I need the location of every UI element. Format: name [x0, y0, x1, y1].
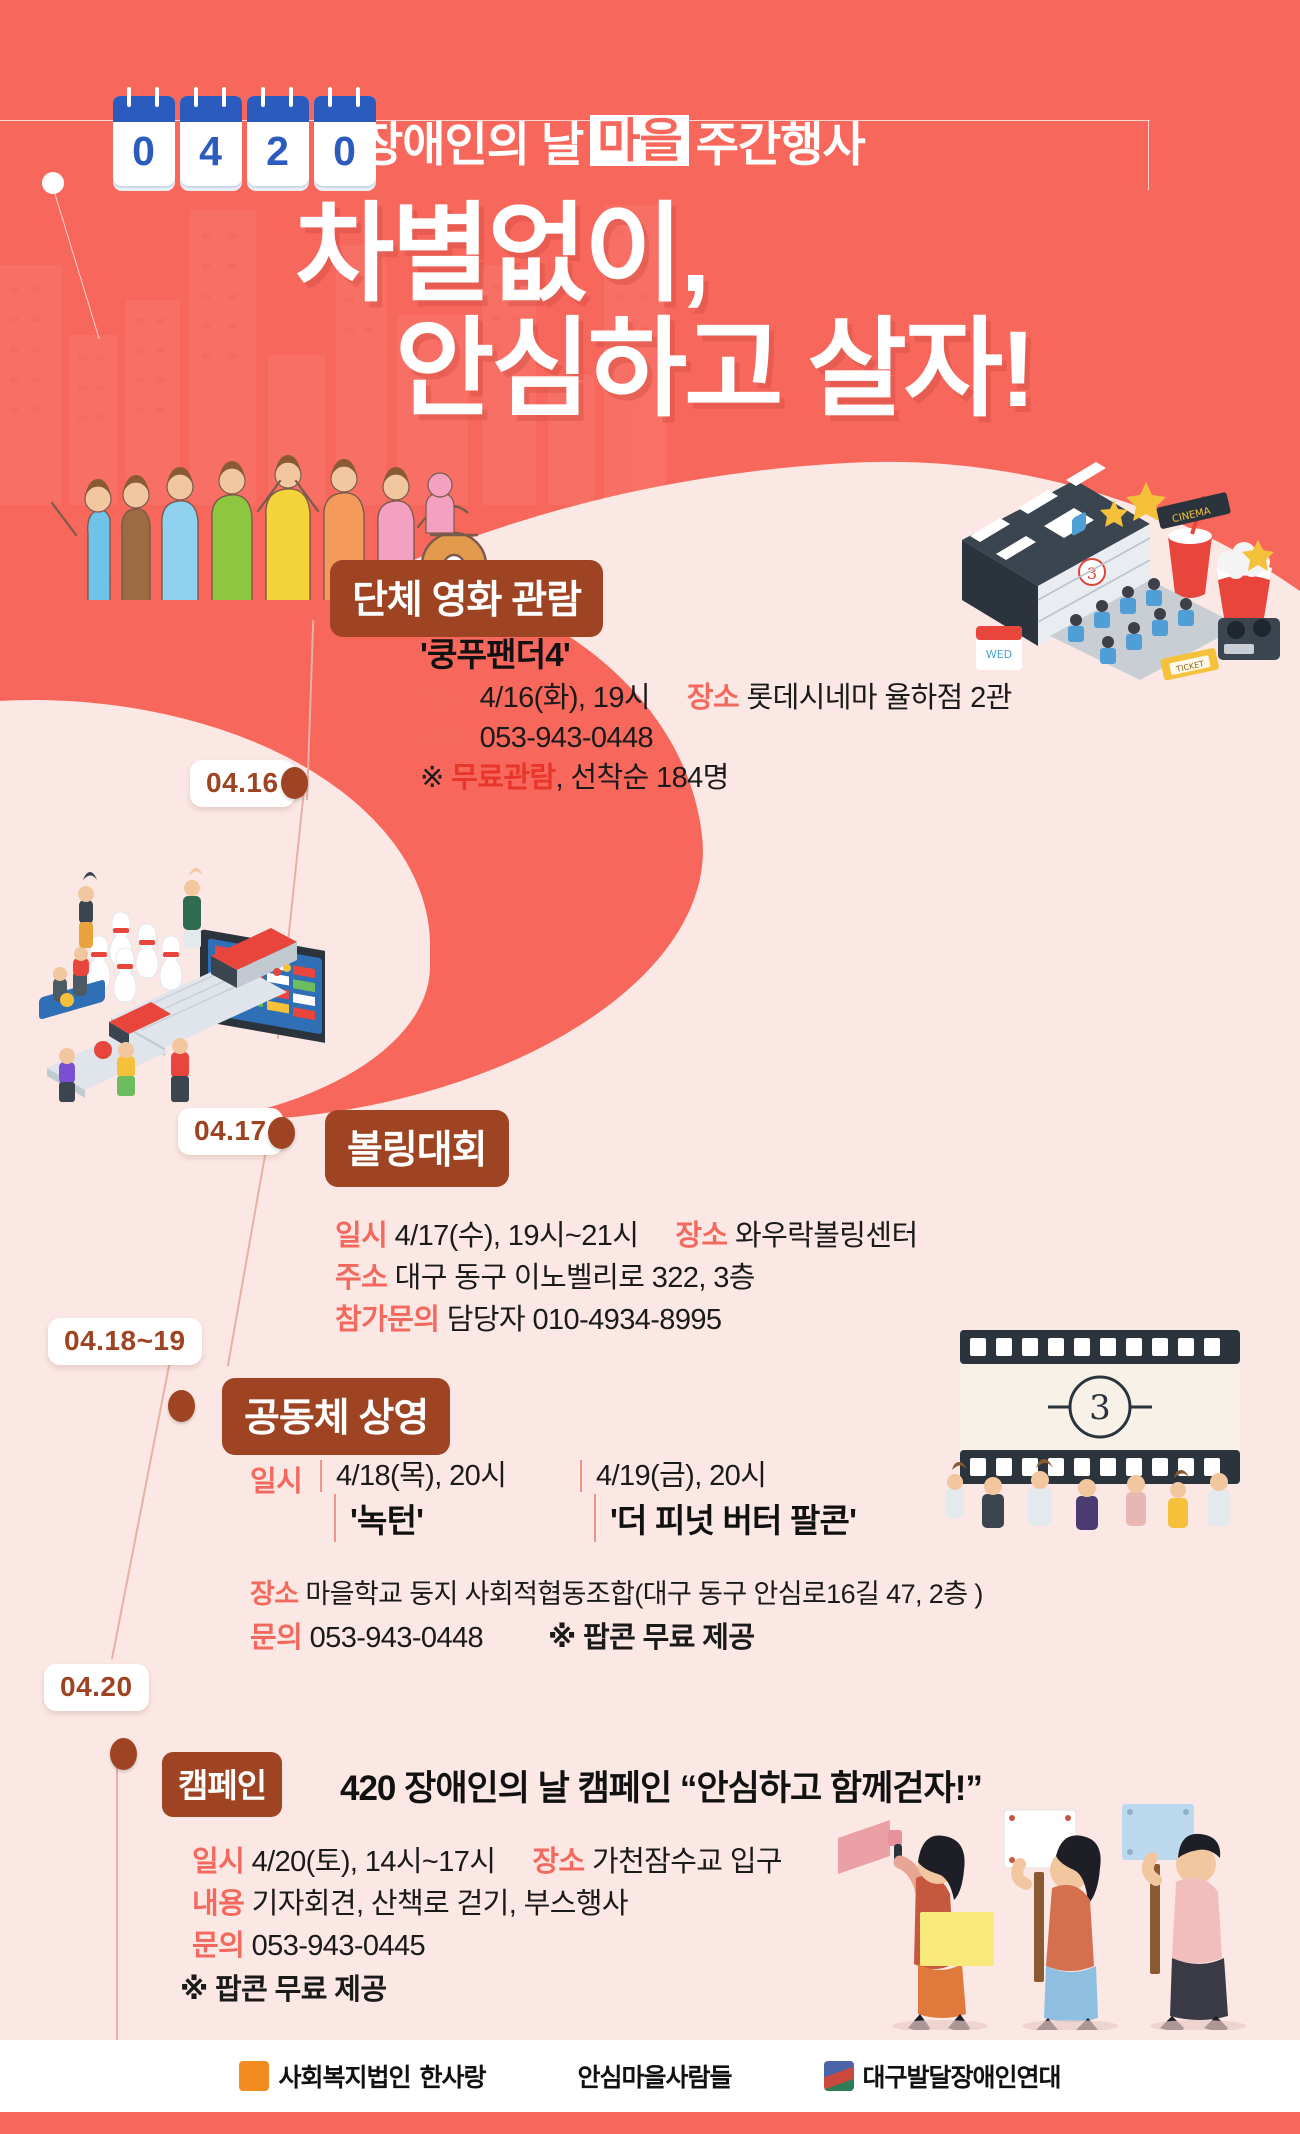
timeline-dot-event-4	[110, 1738, 137, 1770]
calendar-tile-2: 2	[247, 96, 309, 186]
svg-text:3: 3	[1087, 564, 1097, 583]
footer-organizations: 사회복지법인 한사랑 안심마을사람들 대구발달장애인연대	[0, 2040, 1300, 2112]
header-title-highlight: 마을	[590, 115, 688, 167]
film-projection-illustration: 3	[930, 1320, 1260, 1550]
label-contact: 문의	[192, 1930, 244, 1962]
bowling-isometric-illustration	[25, 850, 325, 1130]
value-datetime: 4/17(수), 19시~21시	[395, 1220, 639, 1252]
org-item-2: 안심마을사람들	[578, 2058, 732, 2094]
value-datetime: 4/20(토), 14시~17시	[252, 1846, 496, 1878]
slogan-line-2: 안심하고 살자!	[395, 315, 1033, 423]
label-place: 장소	[250, 1579, 298, 1609]
label-contact: 문의	[250, 1622, 302, 1654]
value-place: 롯데시네마 율하점 2관	[747, 682, 1012, 714]
label-contact: 문의	[420, 722, 472, 754]
value-address: 대구 동구 이노벨리로 322, 3층	[395, 1262, 755, 1294]
org-item-3: 대구발달장애인연대	[824, 2058, 1061, 2094]
event-4-row-3: 문의 053-943-0445	[192, 1922, 425, 1964]
screening-2-when: 4/19(금), 20시	[580, 1460, 766, 1492]
screening-2-film: '더 피넛 버터 팔콘'	[594, 1494, 856, 1542]
event-4-row-2: 내용 기자회견, 산책로 걷기, 부스행사	[192, 1880, 628, 1922]
calendar-digit: 4	[180, 122, 242, 180]
value-place: 마을학교 둥지 사회적협동조합(대구 동구 안심로16길 47, 2층 )	[305, 1579, 982, 1609]
timeline-dot-event-1	[281, 767, 308, 799]
event-4-note: ※ 팝콘 무료 제공	[180, 1966, 386, 2008]
calendar-digit: 0	[113, 122, 175, 180]
value-content: 기자회견, 산책로 걷기, 부스행사	[252, 1888, 628, 1920]
value-contact: 053-943-0448	[310, 1622, 483, 1654]
hansarang-logo-icon	[239, 2061, 269, 2091]
event-3-popcorn-note: ※ 팝콘 무료 제공	[548, 1622, 754, 1654]
event-4-row-1: 일시 4/20(토), 14시~17시 장소 가천잠수교 입구	[192, 1838, 782, 1880]
event-1-row-1: 일시 4/16(화), 19시 장소 롯데시네마 율하점 2관	[420, 674, 1012, 716]
label-datetime: 일시	[335, 1220, 387, 1252]
label-address: 주소	[335, 1262, 387, 1294]
header-title-part2: 주간행사	[696, 106, 865, 175]
label-place: 장소	[675, 1220, 727, 1252]
label-place: 장소	[532, 1846, 584, 1878]
calendar-tile-1: 4	[180, 96, 242, 186]
value-place: 와우락볼링센터	[735, 1220, 918, 1252]
label-place: 장소	[687, 682, 739, 714]
date-badge-event-3: 04.18~19	[48, 1318, 202, 1365]
label-datetime: 일시	[420, 682, 472, 714]
value-contact: 053-943-0448	[480, 722, 653, 754]
section-badge-bowling: 볼링대회	[325, 1110, 509, 1187]
event-2-row-3: 참가문의 담당자 010-4934-8995	[335, 1296, 721, 1338]
event-2-row-2: 주소 대구 동구 이노벨리로 322, 3층	[335, 1254, 755, 1296]
label-registration: 참가문의	[335, 1304, 439, 1336]
calendar-date-group: 0 4 2 0	[113, 96, 376, 186]
event-3-row-place: 장소 마을학교 둥지 사회적협동조합(대구 동구 안심로16길 47, 2층 )	[250, 1572, 983, 1611]
header-title-part1: 장애인의 날	[360, 106, 583, 175]
film-title-event-1: '쿵푸팬더4'	[420, 628, 570, 676]
event-1-row-2: 문의 053-943-0448	[420, 714, 653, 756]
org-3-prefix: 대구발달장애인연대	[863, 2058, 1061, 2094]
poster-header: 0 4 2 0 장애인의 날 마을 주간행사	[0, 96, 1300, 192]
section-badge-screening: 공동체 상영	[222, 1378, 450, 1455]
screening-1-film: '녹턴'	[334, 1494, 423, 1542]
timeline-dot-event-3	[168, 1390, 195, 1422]
note-strong: 무료관람	[451, 762, 555, 794]
svg-text:3: 3	[1089, 1388, 1111, 1428]
screening-1-when: 4/18(목), 20시	[320, 1460, 506, 1492]
note-prefix: ※	[420, 762, 451, 794]
date-badge-event-4: 04.20	[44, 1664, 149, 1711]
date-badge-event-1: 04.16	[190, 760, 295, 807]
event-2-row-1: 일시 4/17(수), 19시~21시 장소 와우락볼링센터	[335, 1212, 918, 1254]
label-datetime: 일시	[192, 1846, 244, 1878]
org-1-brand: 한사랑	[419, 2058, 485, 2094]
org-2-prefix: 안심마을사람들	[578, 2058, 732, 2094]
poster-root: 0 4 2 0 장애인의 날 마을 주간행사 차별없이, 안심하고 살자!	[0, 0, 1300, 2134]
slogan-line-1: 차별없이,	[295, 200, 707, 308]
label-content: 내용	[192, 1888, 244, 1920]
note-rest: , 선착순 184명	[555, 762, 728, 794]
header-title: 장애인의 날 마을 주간행사	[360, 106, 865, 175]
calendar-digit: 2	[247, 122, 309, 180]
org-1-prefix: 사회복지법인	[278, 2058, 410, 2094]
value-place: 가천잠수교 입구	[592, 1846, 782, 1878]
section-badge-campaign: 캠페인	[162, 1752, 282, 1817]
value-registration: 담당자 010-4934-8995	[447, 1304, 722, 1336]
daegu-photo-icon	[824, 2061, 854, 2091]
value-contact: 053-943-0445	[252, 1930, 425, 1962]
cinema-isometric-illustration: 3 CINEMA	[900, 440, 1300, 680]
section-badge-movie: 단체 영화 관람	[330, 560, 603, 637]
calendar-tile-0: 0	[113, 96, 175, 186]
screening-2: 4/19(금), 20시	[580, 1452, 766, 1494]
value-datetime: 4/16(화), 19시	[480, 682, 650, 714]
footer-accent-bar	[0, 2112, 1300, 2134]
protest-march-illustration	[820, 1800, 1270, 2030]
event-3-row-contact: 문의 053-943-0448 ※ 팝콘 무료 제공	[250, 1614, 754, 1656]
timeline-connector	[111, 1345, 174, 1660]
event-3-screening-label: 일시	[250, 1458, 302, 1500]
svg-text:WED: WED	[986, 648, 1012, 661]
screening-1: 4/18(목), 20시	[320, 1452, 506, 1494]
event-1-note: ※ 무료관람, 선착순 184명	[420, 754, 729, 796]
org-item-1: 사회복지법인 한사랑	[239, 2058, 485, 2094]
label-datetime: 일시	[250, 1466, 302, 1498]
